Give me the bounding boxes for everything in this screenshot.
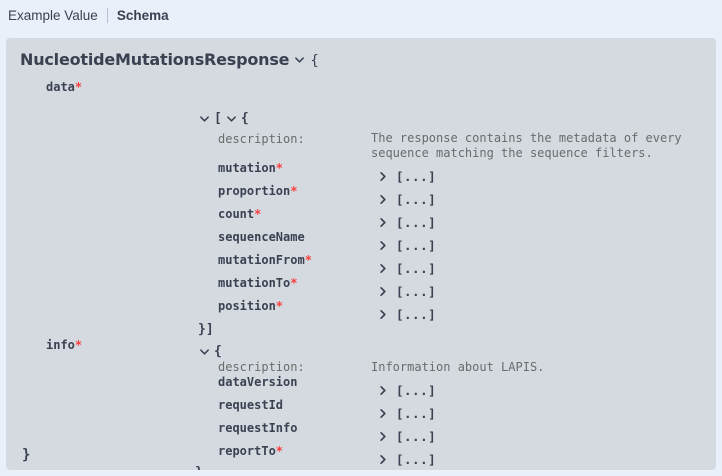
property-info: info*	[46, 338, 82, 352]
property-data: data*	[46, 80, 82, 94]
info-object-opener: {	[198, 344, 222, 359]
object-open-brace: {	[241, 111, 249, 126]
model-open-brace: {	[310, 53, 318, 69]
data-array-close: }]	[198, 322, 214, 337]
chevron-down-icon[interactable]	[198, 113, 211, 124]
chevron-right-icon[interactable]	[376, 408, 389, 419]
expand-toggle-mutationfrom[interactable]: [...]	[376, 261, 436, 276]
property-requestid: requestId	[218, 398, 283, 412]
chevron-down-icon[interactable]	[225, 113, 238, 124]
property-mutationfrom: mutationFrom*	[218, 253, 312, 267]
property-reportto: reportTo*	[218, 444, 283, 458]
chevron-right-icon[interactable]	[376, 263, 389, 274]
expand-toggle-proportion[interactable]: [...]	[376, 192, 436, 207]
info-description-text: Information about LAPIS.	[371, 360, 701, 375]
chevron-right-icon[interactable]	[376, 217, 389, 228]
chevron-right-icon[interactable]	[376, 286, 389, 297]
property-position: position*	[218, 299, 283, 313]
chevron-right-icon[interactable]	[376, 240, 389, 251]
expand-toggle-count[interactable]: [...]	[376, 215, 436, 230]
chevron-down-icon[interactable]	[198, 346, 211, 357]
required-asterisk: *	[75, 338, 82, 352]
required-asterisk: *	[290, 276, 297, 290]
required-asterisk: *	[305, 253, 312, 267]
chevron-right-icon[interactable]	[376, 171, 389, 182]
property-requestinfo: requestInfo	[218, 421, 297, 435]
required-asterisk: *	[75, 80, 82, 94]
info-description-label: description:	[218, 360, 305, 374]
model-close-brace: }	[22, 447, 30, 463]
required-asterisk: *	[290, 184, 297, 198]
property-sequencename: sequenceName	[218, 230, 305, 244]
property-proportion: proportion*	[218, 184, 297, 198]
data-description-text: The response contains the metadata of ev…	[371, 131, 701, 161]
expand-toggle-requestinfo[interactable]: [...]	[376, 429, 436, 444]
array-open-bracket: [	[214, 111, 222, 126]
tab-divider	[107, 8, 108, 23]
expand-toggle-sequencename[interactable]: [...]	[376, 238, 436, 253]
data-array-opener: [ {	[198, 111, 249, 126]
property-mutationto: mutationTo*	[218, 276, 297, 290]
tab-example-value[interactable]: Example Value	[8, 9, 98, 23]
required-asterisk: *	[276, 161, 283, 175]
property-mutation: mutation*	[218, 161, 283, 175]
chevron-right-icon[interactable]	[376, 385, 389, 396]
tab-schema[interactable]: Schema	[117, 9, 169, 23]
expand-toggle-position[interactable]: [...]	[376, 307, 436, 322]
property-dataversion: dataVersion	[218, 375, 297, 389]
info-object-close: }	[195, 465, 203, 470]
expand-toggle-mutationto[interactable]: [...]	[376, 284, 436, 299]
schema-panel: NucleotideMutationsResponse { data* [ { …	[6, 38, 716, 470]
chevron-right-icon[interactable]	[376, 309, 389, 320]
chevron-right-icon[interactable]	[376, 194, 389, 205]
expand-toggle-reportto[interactable]: [...]	[376, 452, 436, 467]
chevron-right-icon[interactable]	[376, 431, 389, 442]
chevron-right-icon[interactable]	[376, 454, 389, 465]
required-asterisk: *	[276, 299, 283, 313]
required-asterisk: *	[276, 444, 283, 458]
model-title: NucleotideMutationsResponse	[20, 50, 289, 69]
model-title-row: NucleotideMutationsResponse {	[20, 50, 319, 69]
expand-toggle-dataversion[interactable]: [...]	[376, 383, 436, 398]
schema-tabbar: Example Value Schema	[0, 0, 722, 28]
expand-toggle-requestid[interactable]: [...]	[376, 406, 436, 421]
property-count: count*	[218, 207, 261, 221]
object-open-brace: {	[214, 344, 222, 359]
chevron-down-icon[interactable]	[293, 54, 306, 65]
data-description-label: description:	[218, 132, 305, 146]
expand-toggle-mutation[interactable]: [...]	[376, 169, 436, 184]
required-asterisk: *	[254, 207, 261, 221]
